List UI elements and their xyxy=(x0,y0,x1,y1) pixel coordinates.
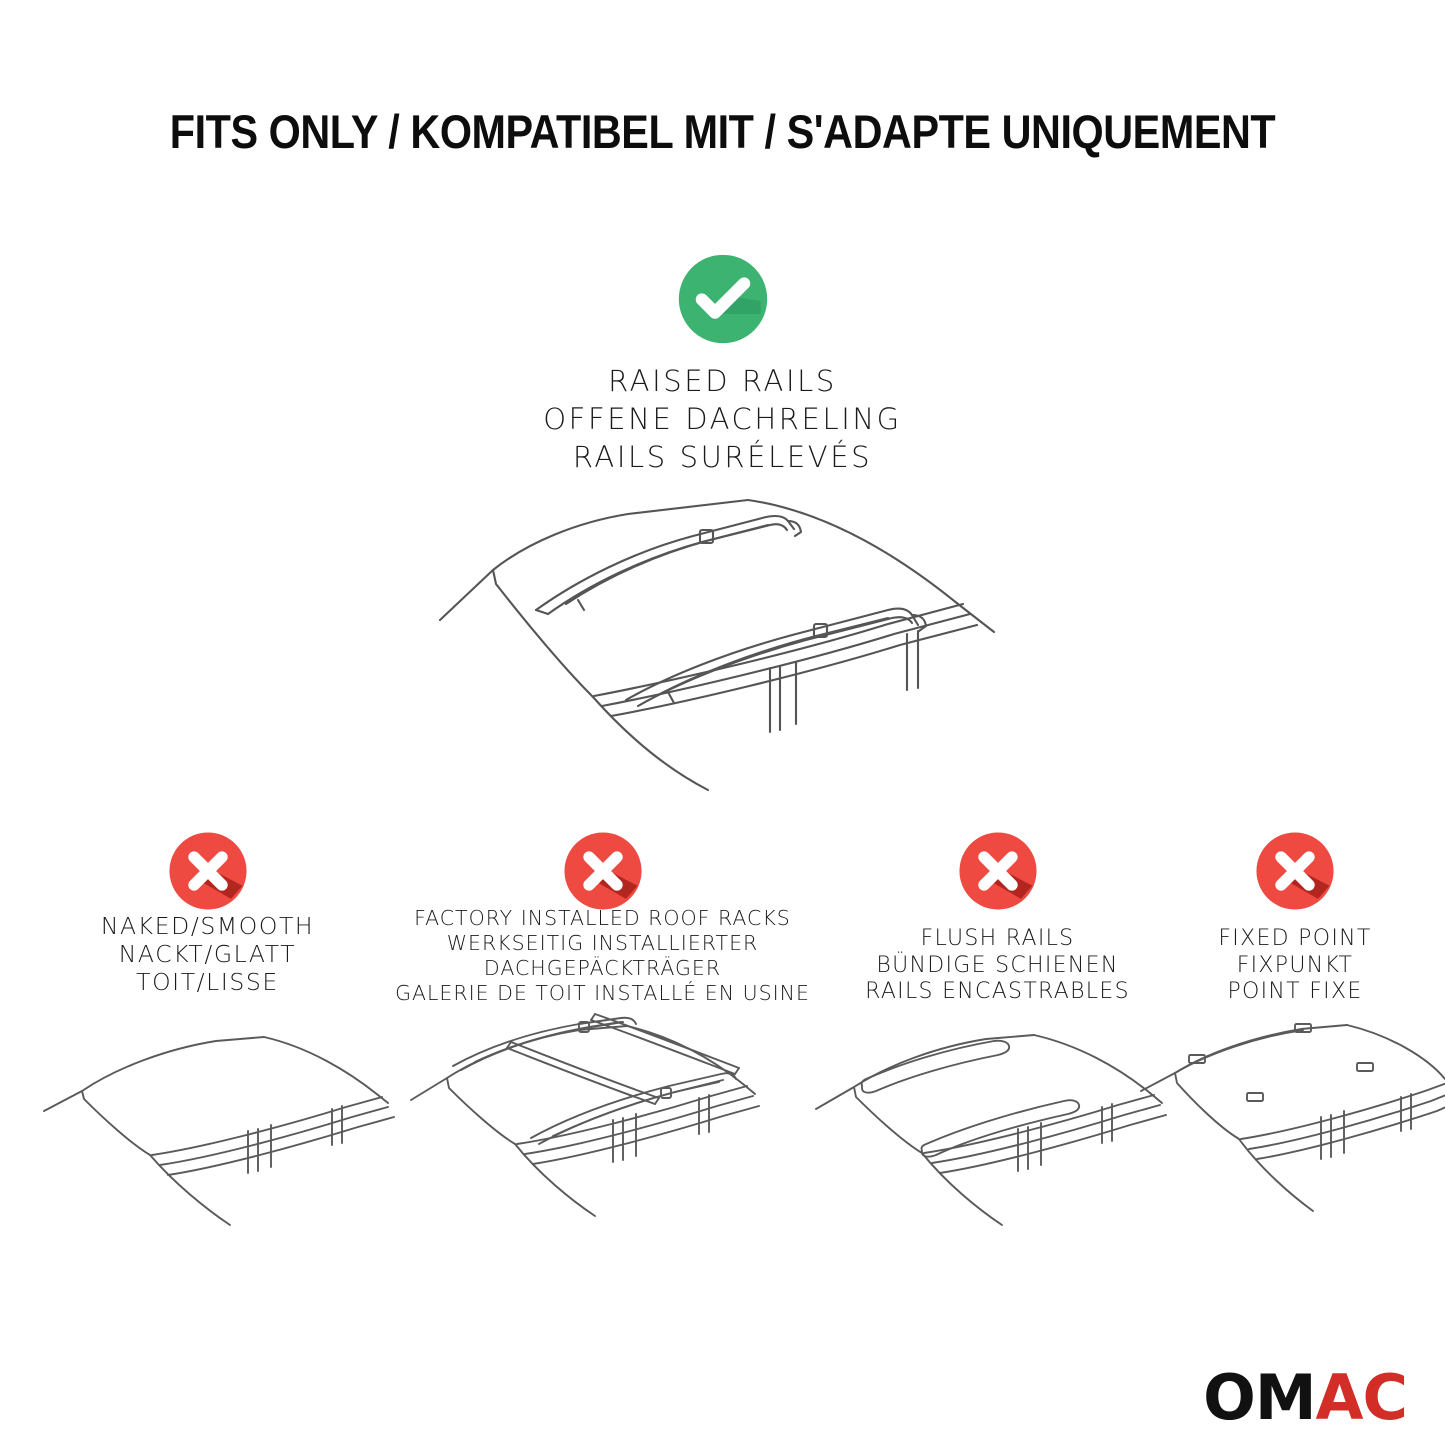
incompatible-row: NAKED/SMOOTH NACKT/GLATT TOIT/LISSE xyxy=(0,808,1445,1278)
red-cross-circle-icon xyxy=(167,830,249,912)
incompatible-line-fr: GALERIE DE TOIT INSTALLÉ EN USINE xyxy=(370,981,835,1006)
incompatible-line-de: BÜNDIGE SCHIENEN xyxy=(825,953,1170,980)
car-roof-naked-smooth-illustration xyxy=(26,1013,406,1248)
incompatible-line-fr: POINT FIXE xyxy=(1160,979,1430,1006)
car-roof-with-flush-rails-illustration xyxy=(802,1013,1182,1248)
compatible-line-de: OFFENE DACHRELING xyxy=(0,400,1445,438)
car-roof-with-factory-cross-bars-illustration xyxy=(403,1004,783,1239)
compatible-line-en: RAISED RAILS xyxy=(0,362,1445,400)
incompatible-line-fr: TOIT/LISSE xyxy=(35,968,380,996)
incompatible-line-en: FIXED POINT xyxy=(1160,926,1430,953)
red-cross-circle-icon xyxy=(957,830,1039,912)
incompatible-label-fixed-point: FIXED POINT FIXPUNKT POINT FIXE xyxy=(1160,926,1430,1006)
car-roof-with-fixed-points-illustration xyxy=(1135,1013,1445,1248)
logo-text-black: OM xyxy=(1203,1361,1315,1434)
infographic-stage: FITS ONLY / KOMPATIBEL MIT / S'ADAPTE UN… xyxy=(0,0,1445,1445)
incompatible-line-fr: RAILS ENCASTRABLES xyxy=(825,979,1170,1006)
car-roof-with-raised-rails-illustration xyxy=(418,492,1028,792)
incompatible-line-en: NAKED/SMOOTH xyxy=(35,912,380,940)
incompatible-line-en: FLUSH RAILS xyxy=(825,926,1170,953)
red-cross-circle-icon xyxy=(562,830,644,912)
compatible-label: RAISED RAILS OFFENE DACHRELING RAILS SUR… xyxy=(0,362,1445,476)
compatible-line-fr: RAILS SURÉLEVÉS xyxy=(0,438,1445,476)
logo-text-red: AC xyxy=(1316,1361,1407,1434)
page-title: FITS ONLY / KOMPATIBEL MIT / S'ADAPTE UN… xyxy=(87,104,1359,159)
incompatible-line-de: FIXPUNKT xyxy=(1160,953,1430,980)
red-cross-circle-icon xyxy=(1254,830,1336,912)
omac-logo: OMAC xyxy=(1203,1367,1407,1429)
incompatible-label-flush-rails: FLUSH RAILS BÜNDIGE SCHIENEN RAILS ENCAS… xyxy=(825,926,1170,1006)
incompatible-line-en: FACTORY INSTALLED ROOF RACKS xyxy=(370,906,835,931)
incompatible-label-naked-smooth: NAKED/SMOOTH NACKT/GLATT TOIT/LISSE xyxy=(35,912,380,996)
incompatible-line-de-1: WERKSEITIG INSTALLIERTER xyxy=(370,931,835,956)
incompatible-label-factory-racks: FACTORY INSTALLED ROOF RACKS WERKSEITIG … xyxy=(370,906,835,1006)
incompatible-line-de-2: DACHGEPÄCKTRÄGER xyxy=(370,956,835,981)
green-check-circle-icon xyxy=(676,252,770,346)
incompatible-line-de: NACKT/GLATT xyxy=(35,940,380,968)
